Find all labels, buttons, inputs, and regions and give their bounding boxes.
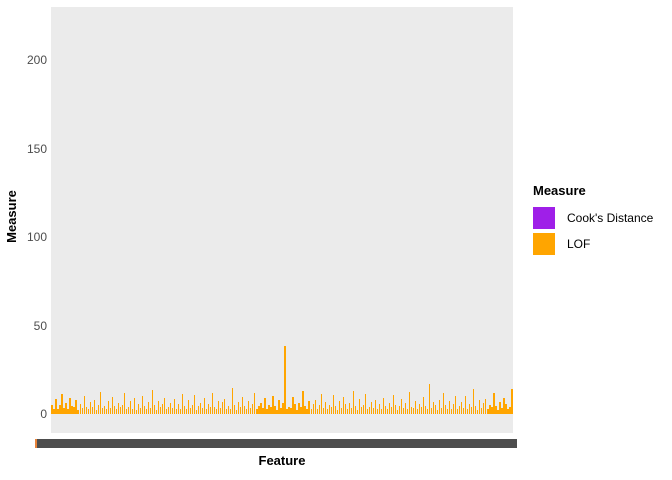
legend-title: Measure	[533, 183, 668, 198]
legend-color-swatch	[533, 233, 555, 255]
legend-items: Cook's DistanceLOF	[533, 205, 668, 257]
chart-plot-root: Measure 050100150200 Feature Measure Coo…	[0, 0, 672, 480]
bar	[284, 346, 285, 414]
bar	[511, 389, 512, 414]
y-axis-tick-label: 0	[7, 407, 47, 421]
x-axis-tick-labels-block	[36, 439, 517, 448]
y-axis-tick-label: 150	[7, 142, 47, 156]
legend-item[interactable]: Cook's Distance	[533, 205, 668, 231]
legend-item-label: Cook's Distance	[567, 211, 653, 225]
y-axis-tick-label: 200	[7, 53, 47, 67]
legend-item[interactable]: LOF	[533, 231, 668, 257]
y-axis-tick-label: 100	[7, 230, 47, 244]
y-axis-tick-labels: 050100150200	[4, 0, 47, 480]
x-axis-title: Feature	[51, 453, 513, 468]
y-axis-tick-label: 50	[7, 319, 47, 333]
legend: Measure Cook's DistanceLOF	[533, 183, 668, 257]
legend-item-label: LOF	[567, 237, 590, 251]
bar-series-lof	[51, 7, 513, 414]
plot-panel	[51, 7, 513, 433]
legend-color-swatch	[533, 207, 555, 229]
